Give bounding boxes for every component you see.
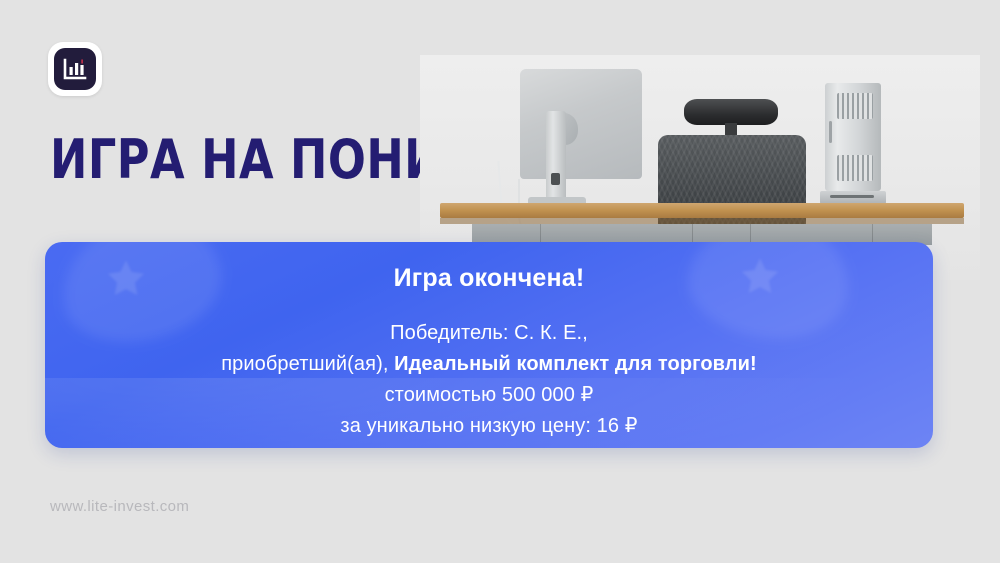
desk-surface (440, 203, 964, 218)
pc-tower-slot (829, 121, 832, 143)
bar-chart-candlestick-icon (63, 58, 87, 80)
computer-monitor (520, 69, 642, 179)
announcement-title: Игра окончена! (394, 264, 585, 293)
announcement-panel: Игра окончена! Победитель: С. К. Е., при… (45, 242, 933, 448)
pc-tower-vent-top (837, 93, 873, 119)
monitor-port (551, 173, 560, 185)
brand-logo[interactable] (48, 42, 102, 96)
pc-tower-vent-bottom (837, 155, 873, 181)
announcement-line-final-price: за уникально низкую цену: 16 ₽ (340, 411, 637, 442)
monitor-stand (546, 111, 566, 207)
announcement-line-original-price: стоимостью 500 000 ₽ (385, 380, 594, 411)
chair-headrest (684, 99, 778, 125)
footer-website-url[interactable]: www.lite-invest.com (50, 498, 189, 515)
announcement-line-product: приобретший(ая), Идеальный комплект для … (221, 349, 757, 380)
pc-tower-base-strip (830, 195, 874, 198)
slide-canvas: ИГРА НА ПОНИЖЕНИЕ (0, 0, 1000, 563)
product-name: Идеальный комплект для торговли! (394, 353, 757, 375)
announcement-content: Игра окончена! Победитель: С. К. Е., при… (45, 242, 933, 448)
product-prefix: приобретший(ая), (221, 353, 394, 375)
logo-mark (54, 48, 96, 90)
announcement-line-winner: Победитель: С. К. Е., (390, 318, 588, 349)
